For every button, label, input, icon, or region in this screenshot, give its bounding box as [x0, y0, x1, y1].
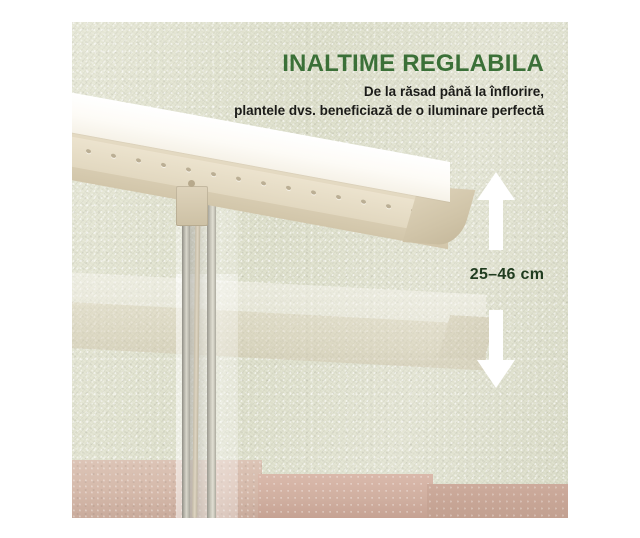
screenshot-canvas: INALTIME REGLABILA De la răsad până la î… [0, 0, 640, 538]
led-dot [111, 153, 116, 158]
led-dot [311, 190, 316, 195]
subtitle: De la răsad până la înflorire, plantele … [72, 82, 544, 120]
led-dot [136, 158, 141, 163]
lamp-lowered-position [72, 272, 486, 380]
led-dot [286, 185, 291, 190]
height-range-indicator: 25–46 cm [460, 170, 552, 390]
led-dot [386, 204, 391, 209]
led-dot [186, 167, 191, 172]
led-dot [361, 199, 366, 204]
arrow-down-icon [476, 308, 516, 390]
lamp-bracket [176, 186, 208, 226]
led-dot [336, 195, 341, 200]
led-dot [261, 181, 266, 186]
led-dot [161, 162, 166, 167]
subtitle-line-1: De la răsad până la înflorire, [72, 82, 544, 101]
page-title: INALTIME REGLABILA [72, 50, 544, 78]
led-dot [236, 176, 241, 181]
product-photo: INALTIME REGLABILA De la răsad până la î… [72, 22, 568, 518]
bracket-pin-icon [188, 180, 195, 187]
pot-mid [258, 474, 433, 518]
led-dot [86, 149, 91, 154]
subtitle-line-2: plantele dvs. beneficiază de o iluminare… [72, 101, 544, 120]
led-dot [211, 172, 216, 177]
pot-right [427, 484, 568, 518]
arrow-up-icon [476, 170, 516, 252]
height-range-label: 25–46 cm [432, 266, 568, 284]
